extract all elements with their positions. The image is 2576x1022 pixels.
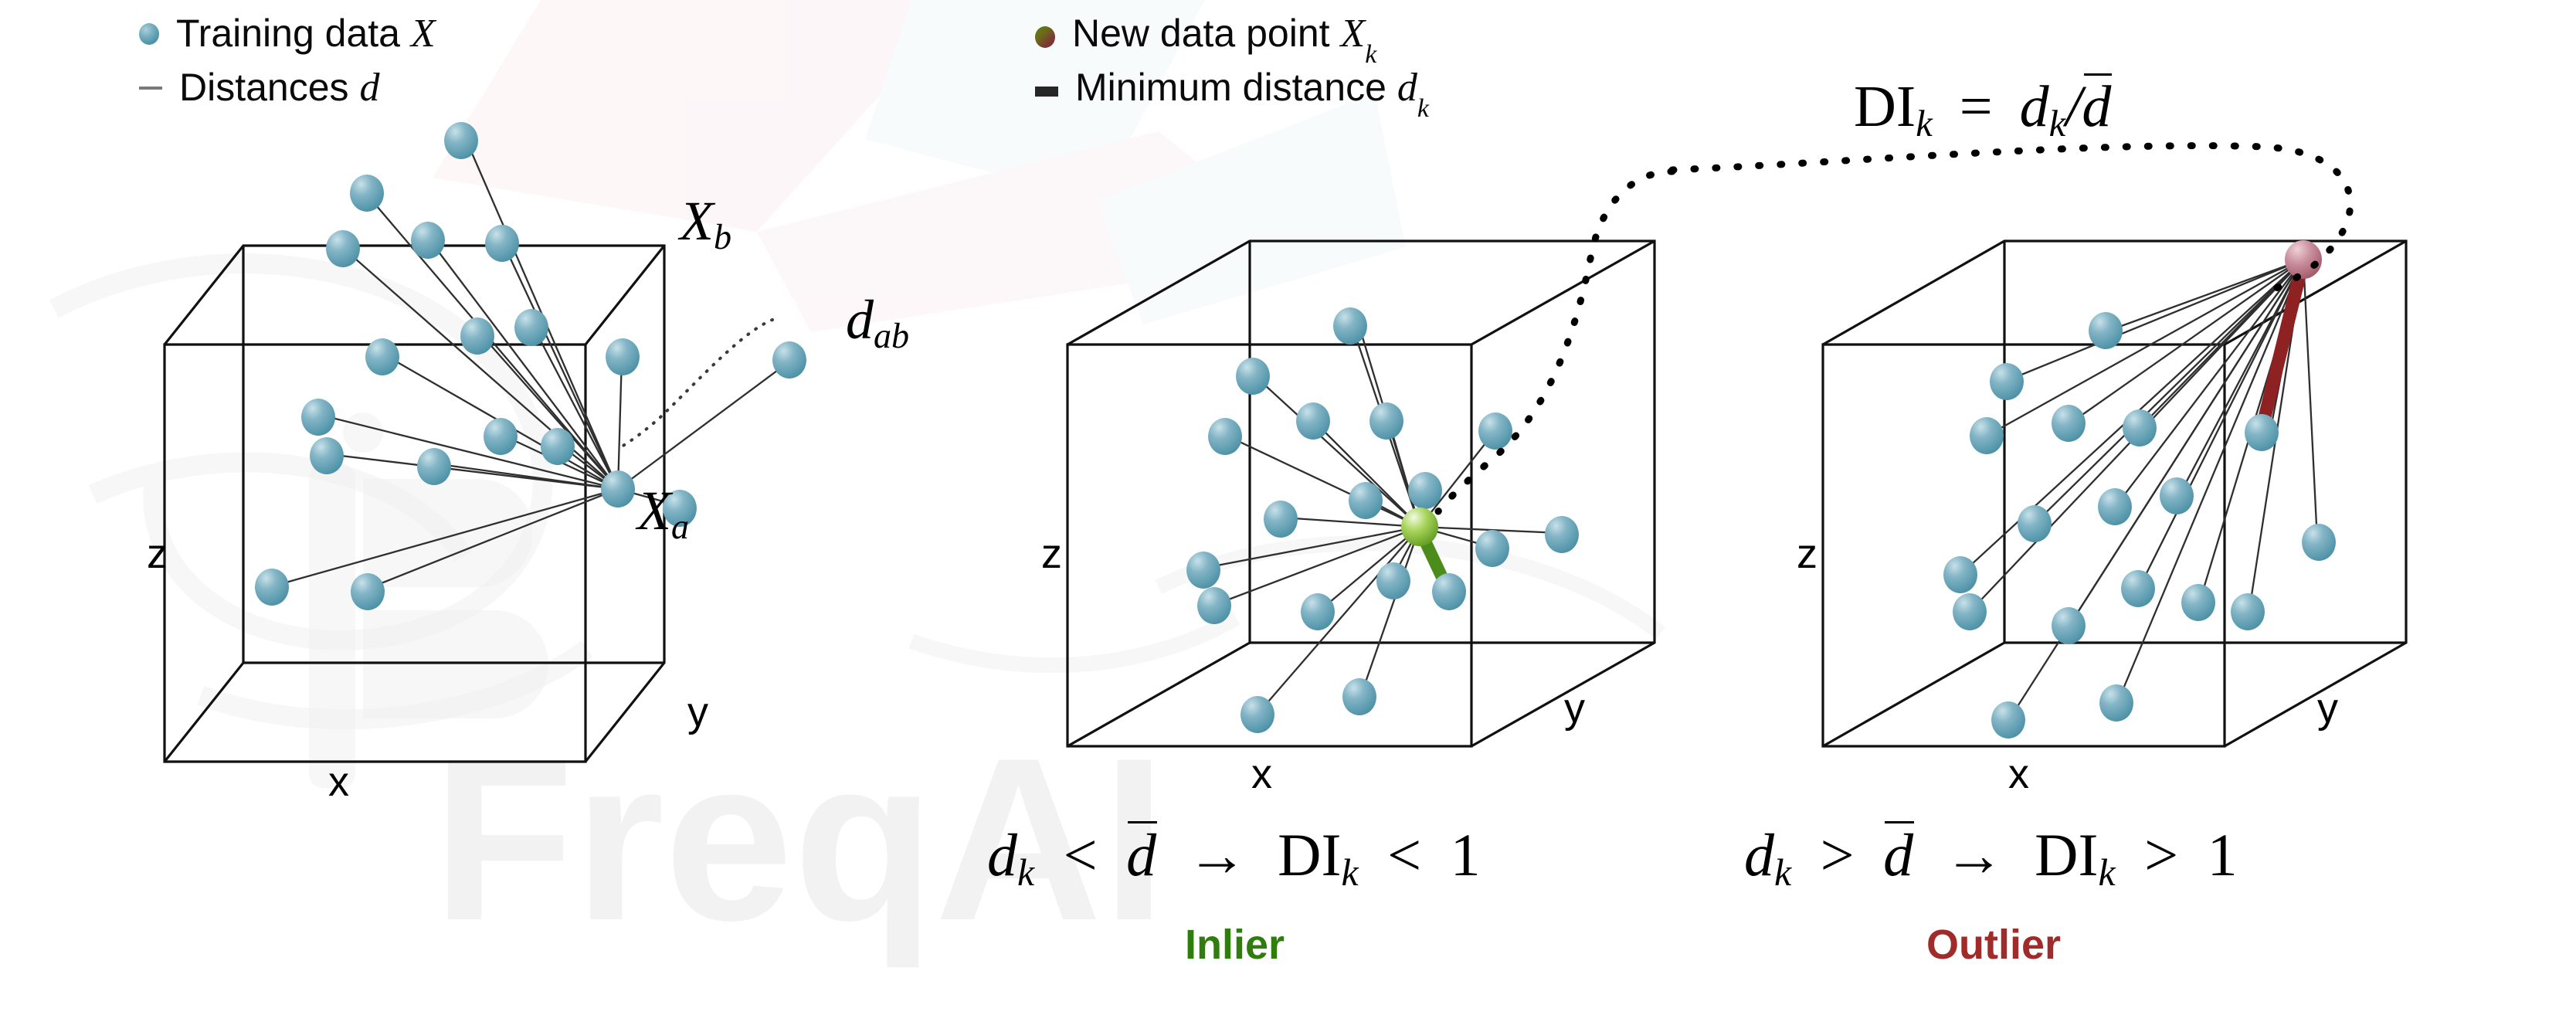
axis-label-x-panel1: x bbox=[328, 761, 349, 803]
distance-line-icon bbox=[139, 87, 162, 90]
cube-wire-1 bbox=[165, 246, 664, 762]
legend-item-minimum-distance[interactable]: Minimum distance dk bbox=[1035, 68, 1429, 114]
nearest-neighbour-outlier bbox=[2245, 414, 2279, 451]
legend-label-distances: Distances d bbox=[179, 68, 379, 108]
axis-label-x-panel3: x bbox=[2008, 753, 2029, 795]
axis-label-z-panel3: z bbox=[1797, 533, 1817, 575]
legend-label-new-data-point: New data point Xk bbox=[1072, 14, 1376, 60]
d-ab-leader-line bbox=[622, 320, 772, 446]
legend-label-training-data: Training data X bbox=[176, 14, 436, 54]
anchor-point-xa bbox=[601, 470, 635, 508]
distance-lines-3 bbox=[1962, 260, 2317, 718]
axis-label-y-panel1: y bbox=[687, 691, 708, 733]
status-badge-inlier: Inlier bbox=[1185, 924, 1285, 966]
axis-label-y-panel2: y bbox=[1564, 688, 1585, 729]
axis-label-z-panel2: z bbox=[1041, 533, 1062, 575]
training-points-2 bbox=[1186, 307, 1579, 733]
status-badge-outlier: Outlier bbox=[1926, 924, 2061, 966]
label-xb: Xb bbox=[680, 193, 731, 249]
d-ab-label: dab bbox=[846, 292, 909, 348]
caption-formula-inlier: dk < d → DIk < 1 bbox=[987, 825, 1481, 885]
new-data-point-outlier bbox=[2285, 240, 2322, 279]
minimum-distance-icon bbox=[1035, 87, 1058, 97]
legend-item-training-data[interactable]: Training data X bbox=[139, 14, 436, 54]
legend-label-minimum-distance: Minimum distance dk bbox=[1075, 68, 1429, 114]
figure-canvas: FreqAI bbox=[0, 0, 2576, 1022]
legend-item-distances[interactable]: Distances d bbox=[139, 68, 379, 108]
new-data-point-inlier bbox=[1401, 508, 1438, 546]
caption-formula-outlier: dk > d → DIk > 1 bbox=[1744, 825, 2238, 885]
axis-label-y-panel3: y bbox=[2317, 688, 2338, 729]
legend-item-new-data-point[interactable]: New data point Xk bbox=[1035, 14, 1376, 60]
dotted-connectors bbox=[1438, 146, 2350, 511]
di-formula: DIk = dk/d bbox=[1854, 77, 2111, 136]
label-xa: Xa bbox=[637, 483, 689, 538]
axis-label-z-panel1: z bbox=[147, 533, 168, 575]
training-point-icon bbox=[139, 23, 159, 45]
new-data-point-icon bbox=[1035, 26, 1055, 48]
panel-outlier bbox=[1823, 240, 2406, 746]
nearest-neighbour-inlier bbox=[1432, 573, 1466, 610]
axis-label-x-panel2: x bbox=[1251, 753, 1272, 795]
panel-inlier bbox=[1067, 241, 1655, 746]
